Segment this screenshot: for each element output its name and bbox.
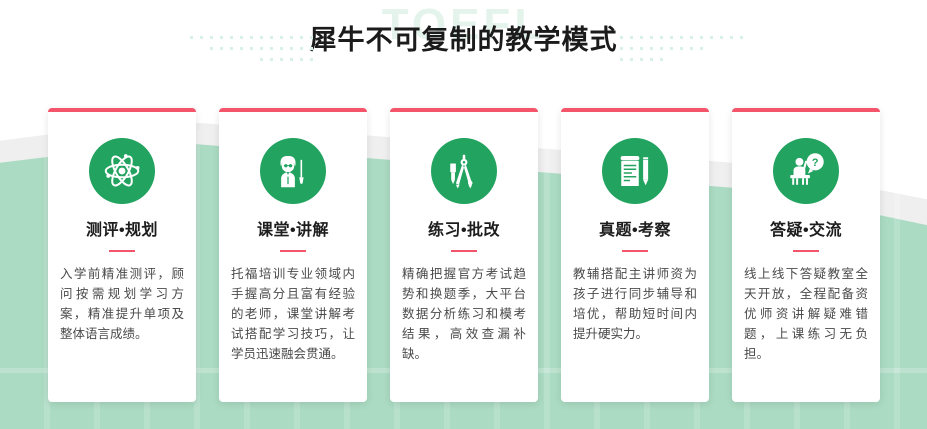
dot [230, 47, 233, 50]
dot [260, 47, 263, 50]
card-description: 精确把握官方考试趋势和换题季，大平台数据分析练习和模考结果，高效查漏补缺。 [402, 264, 526, 364]
dot [650, 58, 653, 61]
card-title: 测评•规划 [48, 221, 196, 241]
dot [620, 58, 623, 61]
dot [270, 47, 273, 50]
card-description: 入学前精准测评，顾问按需规划学习方案，精准提升单项及整体语言成绩。 [60, 264, 184, 344]
dot [670, 47, 673, 50]
dot [300, 47, 303, 50]
teacher-pointer-icon [260, 138, 326, 204]
dot [260, 58, 263, 61]
dot [620, 36, 623, 39]
feature-card[interactable]: 真题•考察教辅搭配主讲师资为孩子进行同步辅导和培优，帮助短时间内提升硬实力。 [561, 108, 709, 402]
dot [280, 36, 283, 39]
card-body: ? 答疑•交流线上线下答疑教室全天开放，全程配备资优师资讲解疑难错题，上课练习无… [732, 112, 880, 402]
dot [190, 36, 193, 39]
dot [650, 47, 653, 50]
dot [640, 36, 643, 39]
card-description: 托福培训专业领域内手握高分且富有经验的老师，课堂讲解考试搭配学习技巧，让学员迅速… [231, 264, 355, 364]
dot [670, 36, 673, 39]
dot [640, 58, 643, 61]
dot [660, 58, 663, 61]
dot [620, 47, 623, 50]
card-body: 课堂•讲解托福培训专业领域内手握高分且富有经验的老师，课堂讲解考试搭配学习技巧，… [219, 112, 367, 402]
dot [200, 36, 203, 39]
dot-pattern-right [620, 32, 750, 66]
dot [220, 47, 223, 50]
promo-section: TOEFL 犀牛不可复制的教学模式 测评•规划入学前精准测评，顾问按需规划学习方… [0, 0, 927, 429]
dot [690, 36, 693, 39]
card-description: 教辅搭配主讲师资为孩子进行同步辅导和培优，帮助短时间内提升硬实力。 [573, 264, 697, 344]
dot [700, 47, 703, 50]
dot [630, 47, 633, 50]
student-question-icon: ? [773, 138, 839, 204]
dot [220, 36, 223, 39]
card-body: 真题•考察教辅搭配主讲师资为孩子进行同步辅导和培优，帮助短时间内提升硬实力。 [561, 112, 709, 402]
dot [290, 47, 293, 50]
dot [230, 36, 233, 39]
dot [310, 36, 313, 39]
dot [290, 58, 293, 61]
title-divider [280, 250, 306, 252]
dot [700, 36, 703, 39]
feature-card[interactable]: ? 答疑•交流线上线下答疑教室全天开放，全程配备资优师资讲解疑难错题，上课练习无… [732, 108, 880, 402]
title-divider [451, 250, 477, 252]
page-title: 犀牛不可复制的教学模式 [0, 22, 927, 58]
dot [630, 36, 633, 39]
title-divider [109, 250, 135, 252]
dot [210, 47, 213, 50]
dot-pattern-left [190, 32, 320, 66]
title-divider [793, 250, 819, 252]
atom-icon [89, 138, 155, 204]
dot [660, 36, 663, 39]
dot [300, 36, 303, 39]
dot [310, 58, 313, 61]
dot [300, 58, 303, 61]
card-title: 真题•考察 [561, 221, 709, 241]
dot [250, 47, 253, 50]
dot-row [620, 43, 750, 54]
dot [260, 36, 263, 39]
dot [280, 47, 283, 50]
compass-divider-icon [431, 138, 497, 204]
dot [680, 47, 683, 50]
dot [660, 47, 663, 50]
dot [740, 36, 743, 39]
dot-row [190, 54, 320, 65]
dot-row [620, 32, 750, 43]
dot-row [190, 32, 320, 43]
svg-text:?: ? [812, 157, 819, 169]
dot [240, 47, 243, 50]
dot [210, 36, 213, 39]
card-description: 线上线下答疑教室全天开放，全程配备资优师资讲解疑难错题，上课练习无负担。 [744, 264, 868, 364]
card-title: 课堂•讲解 [219, 221, 367, 241]
dot [680, 36, 683, 39]
title-divider [622, 250, 648, 252]
dot [720, 36, 723, 39]
feature-card-list: 测评•规划入学前精准测评，顾问按需规划学习方案，精准提升单项及整体语言成绩。 课… [48, 108, 880, 402]
dot [640, 47, 643, 50]
section-header: TOEFL 犀牛不可复制的教学模式 [0, 0, 927, 95]
card-title: 练习•批改 [390, 221, 538, 241]
dot [270, 58, 273, 61]
dot [250, 36, 253, 39]
card-body: 测评•规划入学前精准测评，顾问按需规划学习方案，精准提升单项及整体语言成绩。 [48, 112, 196, 402]
dot [710, 36, 713, 39]
feature-card[interactable]: 课堂•讲解托福培训专业领域内手握高分且富有经验的老师，课堂讲解考试搭配学习技巧，… [219, 108, 367, 402]
notepad-pencil-icon [602, 138, 668, 204]
dot [630, 58, 633, 61]
dot [270, 36, 273, 39]
dot-row [190, 43, 320, 54]
card-title: 答疑•交流 [732, 221, 880, 241]
card-body: 练习•批改精确把握官方考试趋势和换题季，大平台数据分析练习和模考结果，高效查漏补… [390, 112, 538, 402]
dot [690, 47, 693, 50]
dot [730, 36, 733, 39]
dot-row [620, 54, 750, 65]
dot [280, 58, 283, 61]
dot [240, 36, 243, 39]
dot [650, 36, 653, 39]
dot [290, 36, 293, 39]
feature-card[interactable]: 练习•批改精确把握官方考试趋势和换题季，大平台数据分析练习和模考结果，高效查漏补… [390, 108, 538, 402]
dot [310, 47, 313, 50]
feature-card[interactable]: 测评•规划入学前精准测评，顾问按需规划学习方案，精准提升单项及整体语言成绩。 [48, 108, 196, 402]
